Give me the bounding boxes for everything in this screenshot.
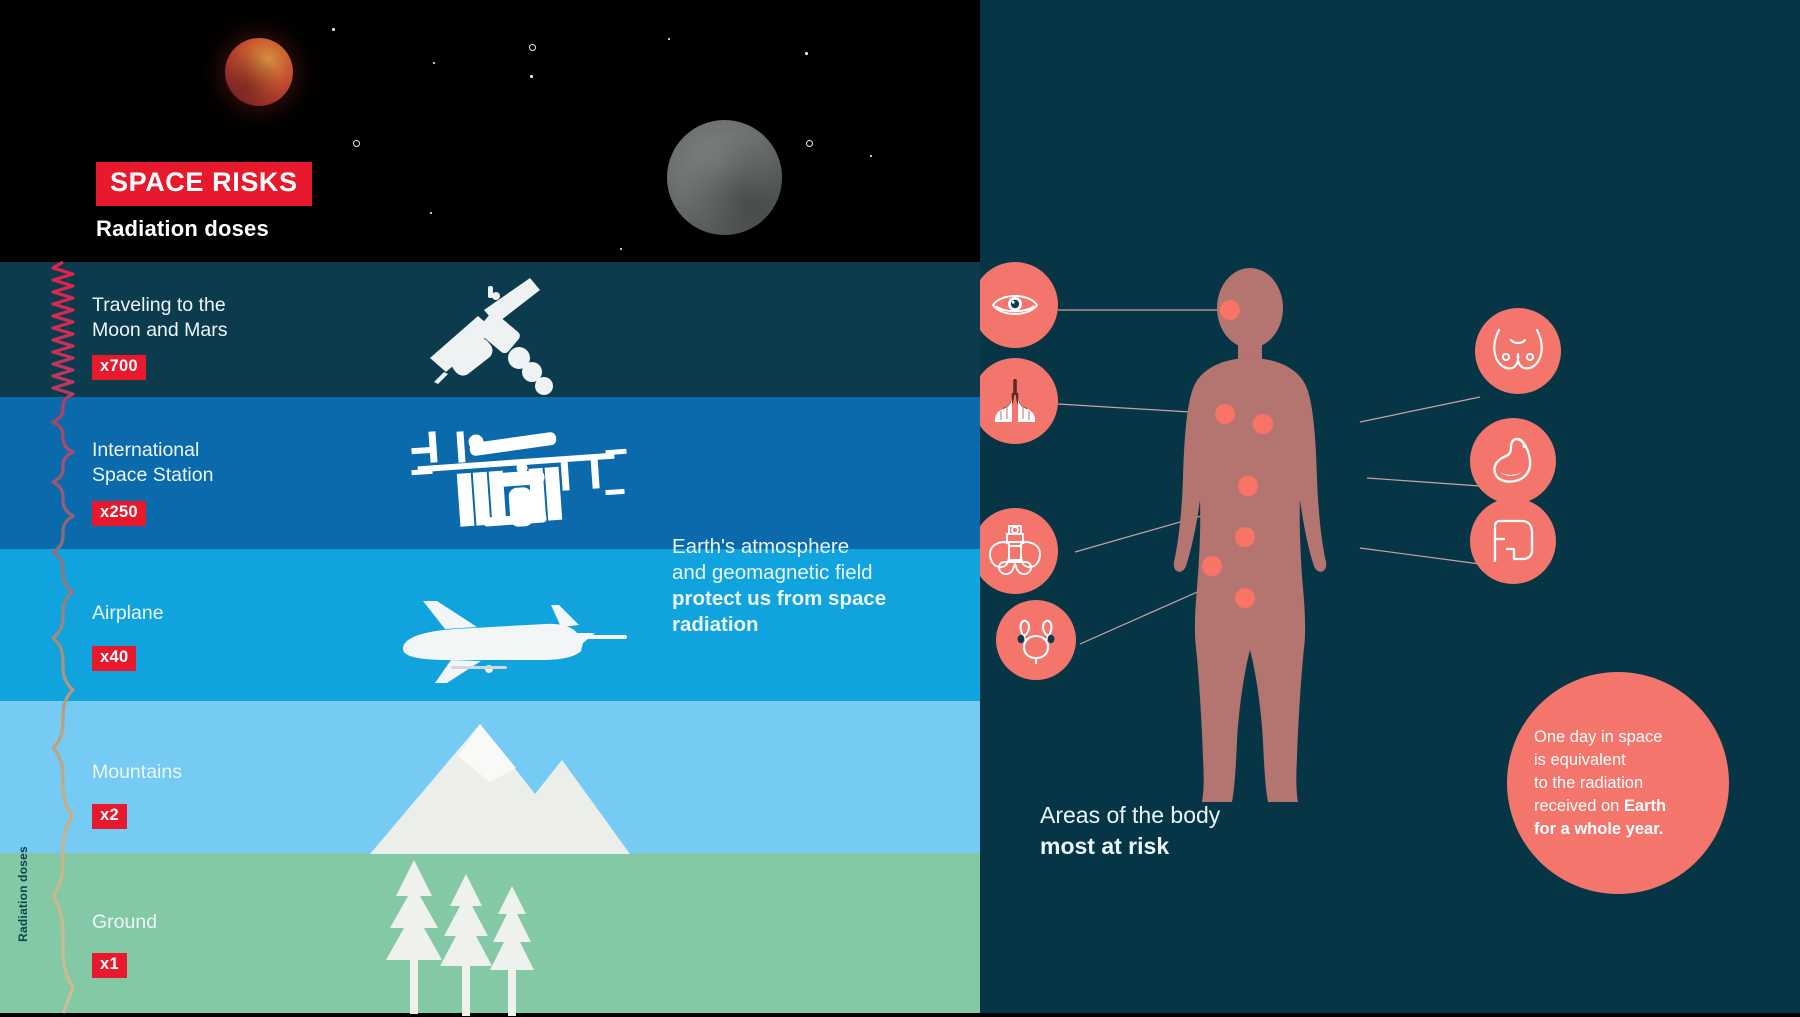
spacecraft-icon (420, 276, 580, 396)
band-label-airplane: Airplane (92, 601, 164, 626)
page-title: SPACE RISKS (110, 167, 298, 197)
stomach-icon (1487, 435, 1539, 487)
hotspot-breast (1253, 414, 1273, 434)
reproductive-organs-icon-bubble[interactable] (996, 600, 1076, 680)
mars-planet-icon (225, 38, 293, 106)
colon-icon (1488, 516, 1538, 566)
breast-icon-bubble[interactable] (1475, 308, 1561, 394)
fact-line3: to the radiation (1534, 772, 1666, 795)
fact-circle: One day in space is equivalent to the ra… (1507, 672, 1729, 894)
fact-line2: is equivalent (1534, 749, 1666, 772)
space-station-icon (410, 412, 630, 542)
radiation-wave-line (46, 262, 80, 1013)
forest-icon (370, 852, 550, 1017)
body-caption: Areas of the body most at risk (1040, 800, 1220, 862)
hotspot-lungs (1215, 404, 1235, 424)
infographic-root: SPACE RISKS Radiation doses EUROPEAN SPA… (0, 0, 1800, 1013)
organ-connector-lines (980, 262, 1800, 1013)
dose-chip-mountains: x2 (92, 804, 127, 829)
band-label-spacecraft: Traveling to the Moon and Mars (92, 293, 227, 343)
fact-line4: received on Earth (1534, 795, 1666, 818)
lungs-icon (989, 375, 1041, 427)
body-caption-bold: most at risk (1040, 831, 1220, 862)
title-badge: SPACE RISKS (96, 162, 312, 206)
atmosphere-note-line2: and geomagnetic field (672, 560, 972, 586)
band-label-mountains: Mountains (92, 760, 182, 785)
band-label-ground: Ground (92, 910, 157, 935)
stomach-icon-bubble[interactable] (1470, 418, 1556, 504)
atmosphere-note-line3: protect us from space (672, 586, 972, 612)
eye-icon (989, 279, 1041, 331)
breast-icon (1491, 328, 1545, 374)
hotspot-bone-marrow (1202, 556, 1222, 576)
atmosphere-note: Earth's atmosphere and geomagnetic field… (672, 534, 972, 638)
hotspot-colon (1235, 527, 1255, 547)
human-silhouette (1130, 272, 1370, 842)
hotspot-stomach (1238, 476, 1258, 496)
airplane-icon (385, 587, 625, 697)
page-subtitle: Radiation doses (96, 216, 269, 242)
fact-text: One day in space is equivalent to the ra… (1534, 726, 1666, 841)
fact-line5: for a whole year. (1534, 818, 1666, 841)
dose-chip-airplane: x40 (92, 646, 136, 671)
radiation-dose-scale: Traveling to the Moon and Mars x700 Inte… (0, 262, 980, 1013)
atmosphere-note-line4: radiation (672, 612, 972, 638)
reproductive-organs-icon (1011, 616, 1061, 664)
body-risk-panel: Areas of the body most at risk One day i… (980, 262, 1800, 1013)
radiation-doses-axis-label: Radiation doses (16, 829, 30, 959)
fact-line4-bold: Earth (1624, 797, 1666, 815)
body-panel-top-fill (980, 0, 1800, 262)
mountains-icon (330, 702, 650, 857)
dose-chip-spacecraft: x700 (92, 355, 146, 380)
fact-line4-plain: received on (1534, 797, 1624, 815)
fact-line1: One day in space (1534, 726, 1666, 749)
atmosphere-note-line1: Earth's atmosphere (672, 534, 972, 560)
bone-marrow-icon (987, 524, 1043, 578)
moon-planet-icon (667, 120, 782, 235)
colon-icon-bubble[interactable] (1470, 498, 1556, 584)
hotspot-eyes (1220, 300, 1240, 320)
dose-chip-ground: x1 (92, 953, 127, 978)
band-label-iss: International Space Station (92, 438, 213, 488)
hotspot-reproductive (1235, 588, 1255, 608)
body-caption-plain: Areas of the body (1040, 800, 1220, 831)
dose-chip-iss: x250 (92, 501, 146, 526)
